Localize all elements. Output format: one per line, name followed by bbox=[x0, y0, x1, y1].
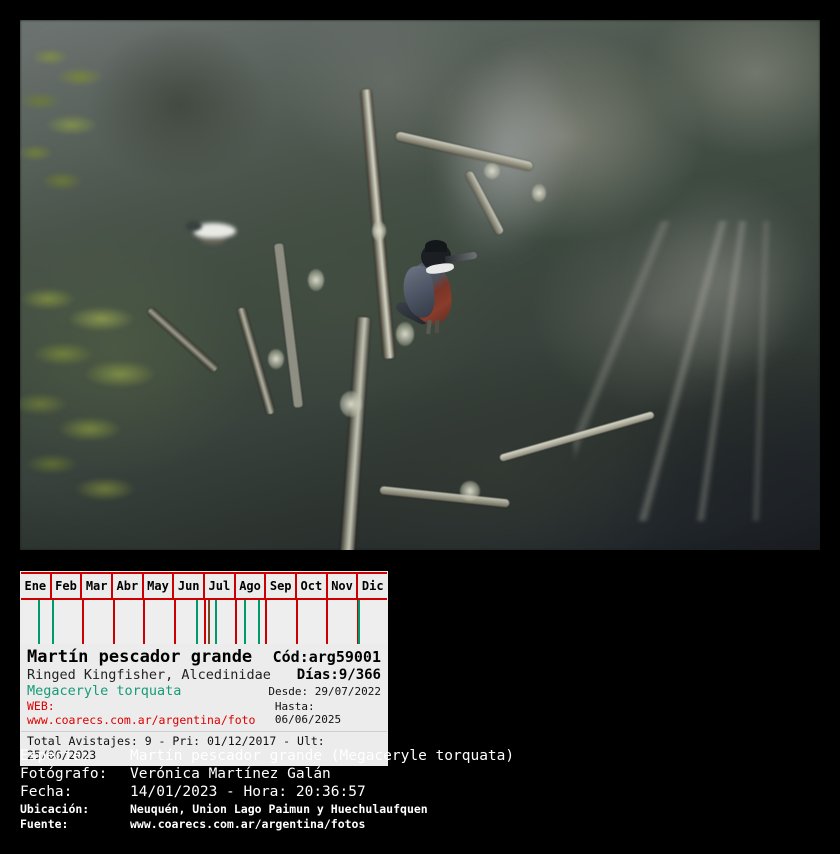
species-days: Días:9/366 bbox=[297, 667, 381, 683]
lichen-clump bbox=[484, 163, 500, 179]
species-web-link[interactable]: WEB: www.coarecs.com.ar/argentina/foto bbox=[27, 699, 275, 727]
foliage-upper-left bbox=[20, 41, 134, 241]
calendar-sighting-tick[interactable] bbox=[208, 600, 210, 644]
calendar-month-header: Ene Feb Mar Abr May Jun Jul Ago Sep Oct … bbox=[21, 574, 387, 600]
flying-bird-head bbox=[186, 221, 202, 231]
meta-row-fecha: Fecha: 14/01/2023 - Hora: 20:36:57 bbox=[20, 784, 820, 800]
calendar-month-divider bbox=[174, 600, 176, 644]
ringed-kingfisher bbox=[393, 240, 489, 340]
calendar-sighting-tick[interactable] bbox=[258, 600, 260, 644]
calendar-month-divider bbox=[265, 600, 267, 644]
calendar-month-divider bbox=[113, 600, 115, 644]
lichen-clump bbox=[308, 269, 324, 291]
calendar-month-mar[interactable]: Mar bbox=[82, 574, 113, 598]
calendar-sighting-tick[interactable] bbox=[358, 600, 360, 644]
calendar-month-divider bbox=[296, 600, 298, 644]
sightings-calendar: Ene Feb Mar Abr May Jun Jul Ago Sep Oct … bbox=[21, 572, 387, 644]
species-code: Cód:arg59001 bbox=[273, 648, 381, 666]
calendar-month-dic[interactable]: Dic bbox=[358, 574, 387, 598]
calendar-sighting-tick[interactable] bbox=[52, 600, 54, 644]
meta-value-especie: Martín pescador grande (Megaceryle torqu… bbox=[130, 748, 820, 764]
calendar-month-divider bbox=[326, 600, 328, 644]
kingfisher-crest bbox=[425, 240, 447, 252]
kingfisher-leg bbox=[426, 320, 432, 334]
meta-row-especie: Especie: Martín pescador grande (Megacer… bbox=[20, 748, 820, 764]
calendar-month-abr[interactable]: Abr bbox=[113, 574, 144, 598]
meta-value-fuente[interactable]: www.coarecs.com.ar/argentina/fotos bbox=[130, 817, 820, 831]
species-desde: Desde: 29/07/2022 bbox=[268, 685, 381, 698]
calendar-month-nov[interactable]: Nov bbox=[328, 574, 359, 598]
photo-metadata: Especie: Martín pescador grande (Megacer… bbox=[20, 748, 820, 832]
meta-value-fotografo: Verónica Martínez Galán bbox=[130, 766, 820, 782]
species-name-row: Martín pescador grande Cód:arg59001 bbox=[27, 647, 381, 667]
species-common-name: Ringed Kingfisher, Alcedinidae bbox=[27, 667, 271, 683]
meta-label-fuente: Fuente: bbox=[20, 817, 130, 831]
page-root: Ene Feb Mar Abr May Jun Jul Ago Sep Oct … bbox=[0, 0, 840, 854]
calendar-month-ene[interactable]: Ene bbox=[21, 574, 52, 598]
bird-photo bbox=[20, 20, 820, 550]
meta-label-fecha: Fecha: bbox=[20, 784, 130, 800]
foliage-lower-left bbox=[20, 274, 200, 524]
calendar-sighting-bars bbox=[21, 600, 387, 644]
kingfisher-leg bbox=[435, 320, 439, 333]
background-trunks bbox=[574, 221, 804, 521]
species-latin-name: Megaceryle torquata bbox=[27, 683, 181, 699]
meta-label-ubicacion: Ubicación: bbox=[20, 802, 130, 816]
calendar-sighting-tick[interactable] bbox=[215, 600, 217, 644]
calendar-month-divider bbox=[143, 600, 145, 644]
calendar-month-divider bbox=[235, 600, 237, 644]
flying-bird-blur bbox=[184, 219, 246, 245]
calendar-month-jun[interactable]: Jun bbox=[174, 574, 205, 598]
meta-row-fotografo: Fotógrafo: Verónica Martínez Galán bbox=[20, 766, 820, 782]
calendar-month-divider bbox=[204, 600, 206, 644]
meta-row-ubicacion: Ubicación: Neuquén, Union Lago Paimun y … bbox=[20, 802, 820, 816]
species-name: Martín pescador grande bbox=[27, 647, 252, 667]
calendar-sighting-tick[interactable] bbox=[196, 600, 198, 644]
calendar-month-jul[interactable]: Jul bbox=[205, 574, 236, 598]
calendar-sighting-tick[interactable] bbox=[244, 600, 246, 644]
lichen-clump bbox=[340, 391, 362, 417]
species-common-row: Ringed Kingfisher, Alcedinidae Días:9/36… bbox=[27, 667, 381, 683]
meta-value-fecha: 14/01/2023 - Hora: 20:36:57 bbox=[130, 784, 820, 800]
calendar-month-oct[interactable]: Oct bbox=[297, 574, 328, 598]
lichen-clump bbox=[268, 349, 284, 369]
meta-value-ubicacion: Neuquén, Union Lago Paimun y Huechulaufq… bbox=[130, 802, 820, 816]
meta-label-fotografo: Fotógrafo: bbox=[20, 766, 130, 782]
species-card-panel: Ene Feb Mar Abr May Jun Jul Ago Sep Oct … bbox=[20, 571, 388, 766]
species-hasta: Hasta: 06/06/2025 bbox=[275, 700, 381, 726]
species-web-row: WEB: www.coarecs.com.ar/argentina/foto H… bbox=[27, 699, 381, 727]
calendar-month-feb[interactable]: Feb bbox=[52, 574, 83, 598]
meta-row-fuente: Fuente: www.coarecs.com.ar/argentina/fot… bbox=[20, 817, 820, 831]
calendar-month-may[interactable]: May bbox=[144, 574, 175, 598]
calendar-month-sep[interactable]: Sep bbox=[266, 574, 297, 598]
species-info: Martín pescador grande Cód:arg59001 Ring… bbox=[21, 644, 387, 731]
calendar-sighting-tick[interactable] bbox=[38, 600, 40, 644]
species-latin-row: Megaceryle torquata Desde: 29/07/2022 bbox=[27, 683, 381, 699]
calendar-month-divider bbox=[82, 600, 84, 644]
calendar-month-ago[interactable]: Ago bbox=[236, 574, 267, 598]
lichen-clump bbox=[460, 481, 480, 501]
meta-label-especie: Especie: bbox=[20, 748, 130, 764]
